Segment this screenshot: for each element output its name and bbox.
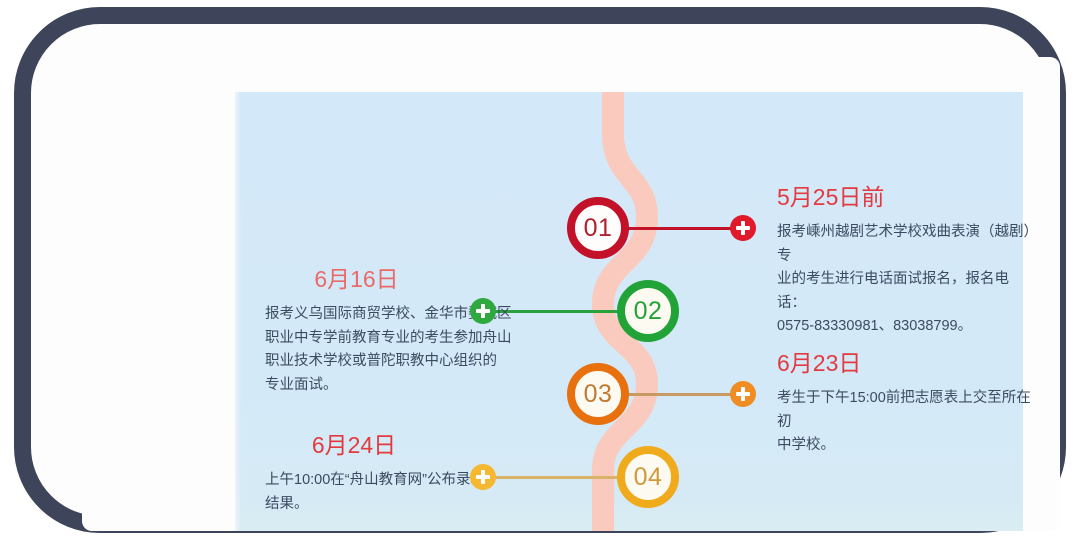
plus-icon-02[interactable]: [470, 298, 496, 324]
timeline-item-02-heading: 6月16日: [265, 267, 540, 292]
panel-left-highlight: [235, 92, 241, 531]
timeline-node-04-label: 04: [634, 463, 663, 492]
plus-icon-04[interactable]: [470, 464, 496, 490]
timeline-item-03-heading: 6月23日: [777, 351, 1039, 376]
timeline-item-01: 5月25日前 报考嵊州越剧艺术学校戏曲表演（越剧）专 业的考生进行电话面试报名，…: [777, 185, 1037, 339]
phone-screen: 01 02 03 04: [82, 57, 1060, 531]
connector-line-01: [627, 227, 743, 230]
timeline-item-01-body: 报考嵊州越剧艺术学校戏曲表演（越剧）专 业的考生进行电话面试报名，报名电话： 0…: [777, 221, 1037, 338]
timeline-node-02[interactable]: 02: [617, 280, 679, 342]
timeline-item-02: 6月16日 报考义乌国际商贸学校、金华市婺城区 职业中专学前教育专业的考生参加舟…: [265, 267, 540, 397]
timeline-node-02-label: 02: [634, 297, 663, 326]
connector-line-03: [627, 393, 743, 396]
plus-icon-03[interactable]: [730, 381, 756, 407]
timeline-item-04-heading: 6月24日: [265, 433, 535, 458]
timeline-item-01-heading: 5月25日前: [777, 185, 1037, 210]
timeline-item-03-body: 考生于下午15:00前把志愿表上交至所在初 中学校。: [777, 387, 1039, 457]
timeline-node-01[interactable]: 01: [567, 197, 629, 259]
phone-device-frame: 01 02 03 04: [14, 7, 1066, 533]
timeline-node-03-label: 03: [584, 380, 613, 409]
timeline-node-03[interactable]: 03: [567, 363, 629, 425]
plus-icon-01[interactable]: [730, 215, 756, 241]
timeline-node-01-label: 01: [584, 214, 613, 243]
timeline-item-03: 6月23日 考生于下午15:00前把志愿表上交至所在初 中学校。: [777, 351, 1039, 458]
screenshot-canvas: 01 02 03 04: [0, 0, 1080, 540]
timeline-item-02-body: 报考义乌国际商贸学校、金华市婺城区 职业中专学前教育专业的考生参加舟山 职业技术…: [265, 303, 540, 397]
timeline-node-04[interactable]: 04: [617, 446, 679, 508]
